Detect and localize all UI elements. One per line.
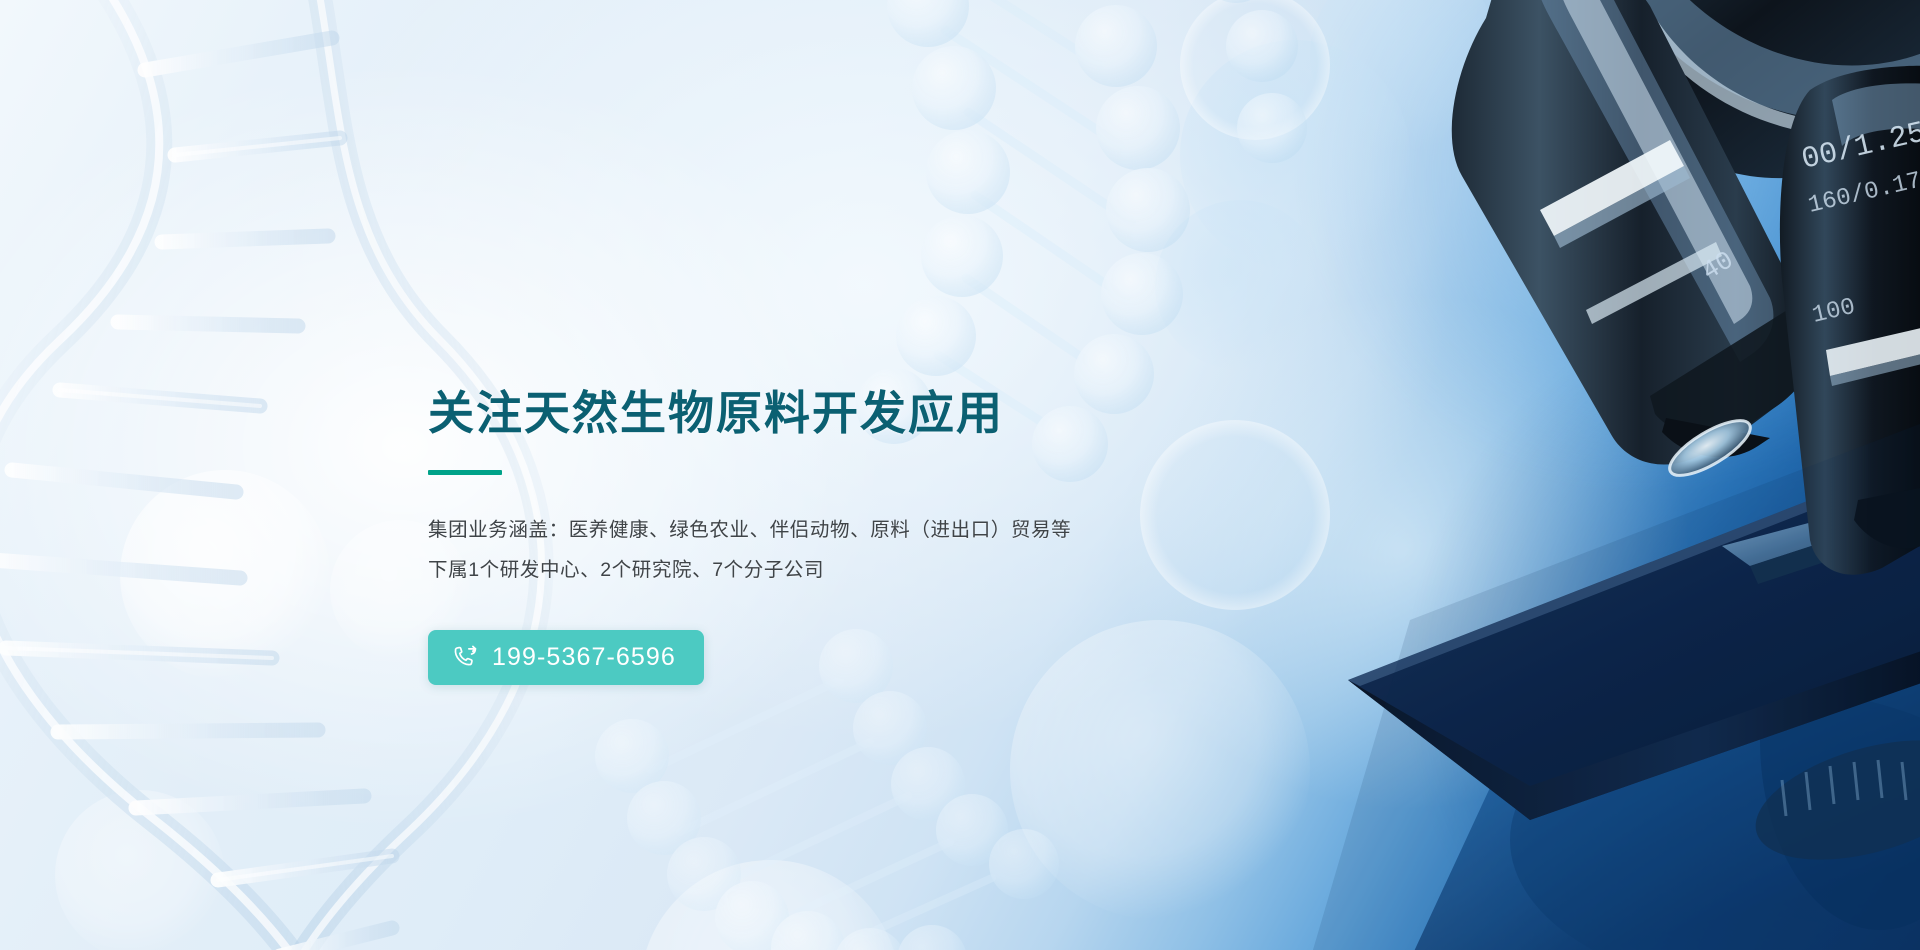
description-line-2: 下属1个研发中心、2个研究院、7个分子公司 [428,551,1288,590]
hero-description: 集团业务涵盖：医养健康、绿色农业、伴侣动物、原料（进出口）贸易等 下属1个研发中… [428,511,1288,590]
hero-banner: 40 00/1.25 160/0.17 100 [0,0,1920,950]
page-title: 关注天然生物原料开发应用 [428,386,1288,440]
hero-content: 关注天然生物原料开发应用 集团业务涵盖：医养健康、绿色农业、伴侣动物、原料（进出… [428,386,1288,685]
phone-call-button[interactable]: 199-5367-6596 [428,630,704,685]
phone-forward-icon [452,644,479,671]
phone-number-label: 199-5367-6596 [492,645,676,670]
description-line-1: 集团业务涵盖：医养健康、绿色农业、伴侣动物、原料（进出口）贸易等 [428,511,1288,550]
title-divider [428,470,502,475]
